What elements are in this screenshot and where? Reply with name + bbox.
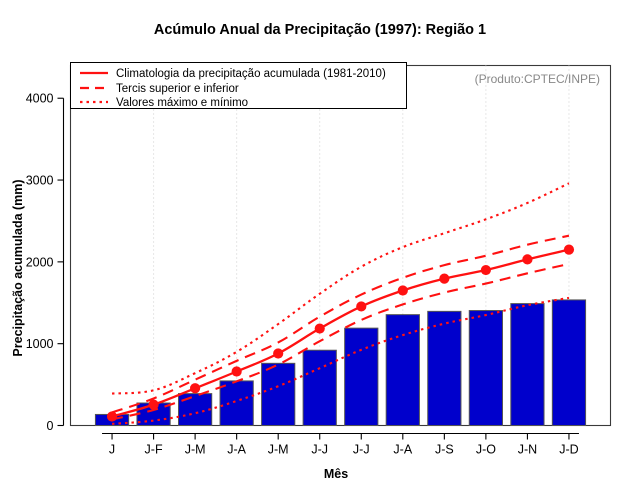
climatology-point-J-F [148,400,158,410]
y-axis: 01000200030004000 [26,92,64,433]
bar-J-D [552,300,585,426]
chart-legend: Climatologia da precipitação acumulada (… [71,63,407,110]
x-tick-label-J-A: J-A [227,443,246,457]
x-tick-label-J-F: J-F [145,443,163,457]
bar-J-M [179,394,212,426]
y-tick-label-0: 0 [47,419,54,433]
chart-title: Acúmulo Anual da Precipitação (1997): Re… [154,22,486,38]
climatology-point-J-N [522,254,532,264]
x-tick-label-J-J: J-J [353,443,370,457]
bar-J-O [469,311,502,426]
bar-J-M [262,363,295,425]
climatology-point-J-M [273,348,283,358]
climatology-point-J-A [232,366,242,376]
climatology-point-J-A [398,285,408,295]
legend-label-terciles: Tercis superior e inferior [116,83,239,95]
x-tick-label-J-J: J-J [311,443,328,457]
bar-J-J [345,328,378,425]
chart-container: Acúmulo Anual da Precipitação (1997): Re… [0,0,640,500]
bar-J-J [303,350,336,425]
x-tick-label-J-D: J-D [559,443,578,457]
x-axis: JJ-FJ-MJ-AJ-MJ-JJ-JJ-AJ-SJ-OJ-NJ-D [102,434,579,457]
x-tick-label-J-M: J-M [185,443,206,457]
x-tick-label-J-A: J-A [393,443,412,457]
climatology-point-J-J [315,323,325,333]
y-axis-label: Precipitação acumulada (mm) [11,179,25,356]
climatology-point-J-S [439,274,449,284]
bar-J-S [428,311,461,425]
bar-J-A [386,315,419,426]
climatology-point-J [107,411,117,421]
x-axis-label: Mês [324,467,348,481]
x-tick-label-J: J [109,443,115,457]
precipitation-accumulation-chart: Acúmulo Anual da Precipitação (1997): Re… [0,0,640,500]
climatology-point-J-M [190,383,200,393]
y-tick-label-1000: 1000 [26,337,54,351]
legend-label-minmax: Valores máximo e mínimo [116,97,248,109]
y-tick-label-3000: 3000 [26,174,54,188]
x-tick-label-J-N: J-N [518,443,537,457]
y-tick-label-2000: 2000 [26,255,54,269]
product-credit: (Produto:CPTEC/INPE) [475,72,600,86]
y-tick-label-4000: 4000 [26,92,54,106]
x-tick-label-J-O: J-O [476,443,496,457]
bar-series [95,300,585,426]
legend-label-climatology: Climatologia da precipitação acumulada (… [116,68,386,80]
climatology-point-J-J [356,301,366,311]
climatology-point-J-O [481,265,491,275]
bar-J-A [220,381,253,426]
climatology-point-J-D [564,244,574,254]
x-tick-label-J-S: J-S [435,443,454,457]
x-tick-label-J-M: J-M [268,443,289,457]
bar-J-N [511,304,544,426]
